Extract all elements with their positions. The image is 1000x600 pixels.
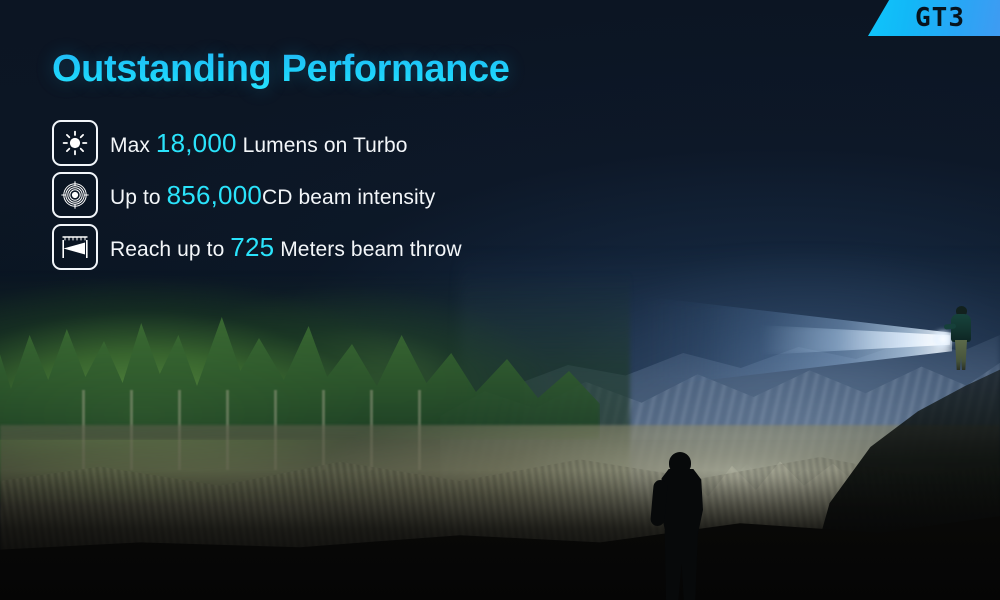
feature-value: 18,000 xyxy=(156,128,237,158)
feature-prefix: Max xyxy=(110,134,156,157)
product-model-label: GT3 xyxy=(903,5,965,31)
sun-brightness-icon xyxy=(52,120,98,166)
feature-prefix: Up to xyxy=(110,186,167,209)
product-banner: GT3 Outstanding Performance xyxy=(0,0,1000,600)
person-legs xyxy=(955,340,967,370)
feature-prefix: Reach up to xyxy=(110,238,230,261)
beam-intensity-target-icon xyxy=(52,172,98,218)
feature-suffix: CD beam intensity xyxy=(262,186,435,209)
feature-list: Max 18,000 Lumens on Turbo xyxy=(52,122,462,268)
product-model-badge: GT3 xyxy=(868,0,1000,36)
feature-row-lumens: Max 18,000 Lumens on Turbo xyxy=(52,122,462,164)
foreground-silhouette xyxy=(650,452,712,600)
feature-suffix: Lumens on Turbo xyxy=(237,134,408,157)
feature-text-lumens: Max 18,000 Lumens on Turbo xyxy=(110,128,408,159)
feature-suffix: Meters beam throw xyxy=(274,238,461,261)
feature-row-intensity: Up to 856,000CD beam intensity xyxy=(52,174,462,216)
feature-text-throw: Reach up to 725 Meters beam throw xyxy=(110,232,462,263)
feature-row-throw: Reach up to 725 Meters beam throw xyxy=(52,226,462,268)
person-with-flashlight xyxy=(944,306,978,370)
page-title: Outstanding Performance xyxy=(52,48,509,91)
feature-value: 725 xyxy=(230,232,274,262)
feature-text-intensity: Up to 856,000CD beam intensity xyxy=(110,180,435,211)
silhouette-legs xyxy=(664,530,698,600)
beam-throw-distance-icon xyxy=(52,224,98,270)
landscape-photo xyxy=(0,250,1000,600)
feature-value: 856,000 xyxy=(167,180,262,210)
